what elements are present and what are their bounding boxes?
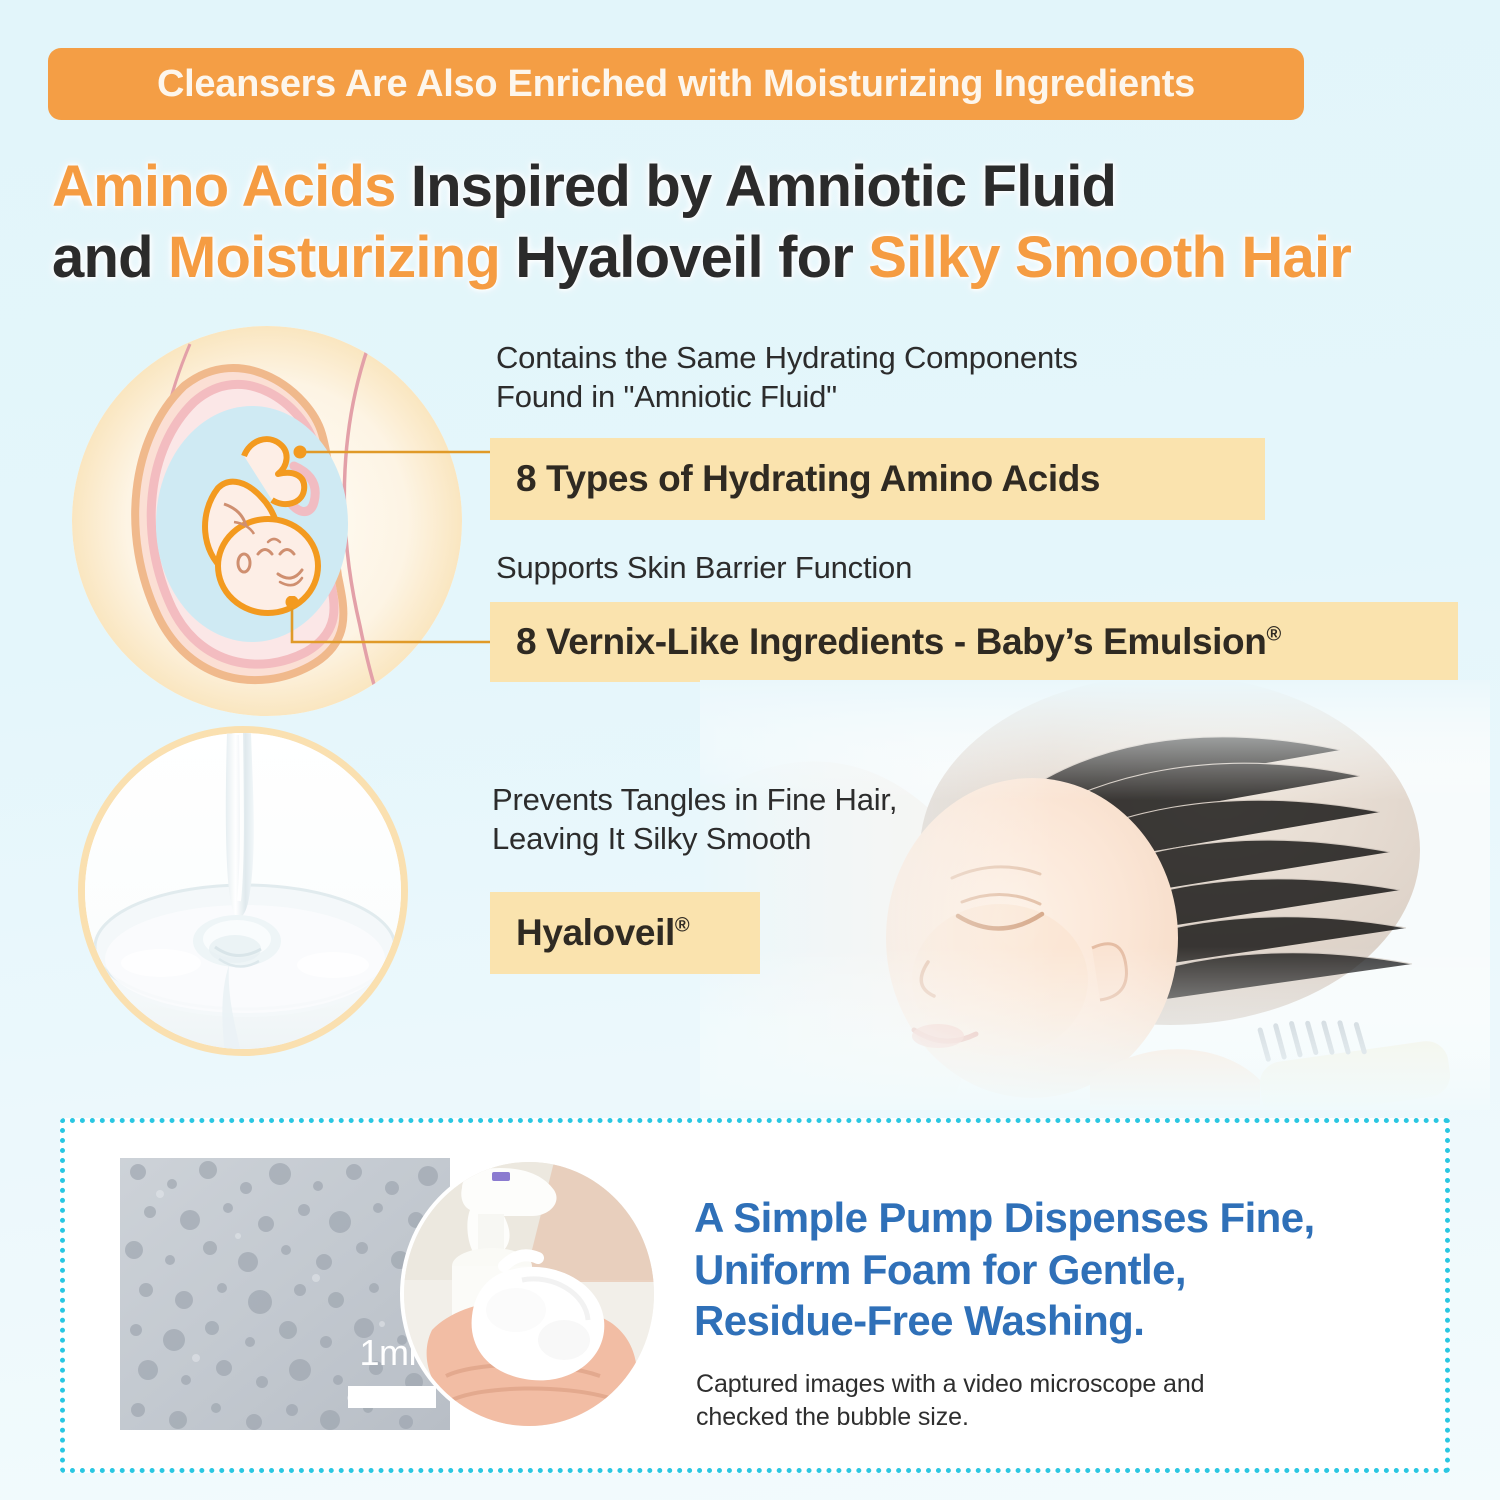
feature-highlight-2-label: 8 Vernix-Like Ingredients - Baby’s Emuls…: [516, 621, 1266, 662]
headline-inspired-by: Inspired by Amniotic Fluid: [396, 154, 1117, 219]
pump-note: Captured images with a video microscope …: [696, 1368, 1204, 1433]
headline-silky-smooth-hair: Silky Smooth Hair: [868, 225, 1351, 290]
header-banner: Cleansers Are Also Enriched with Moistur…: [48, 48, 1304, 120]
pump-heading: A Simple Pump Dispenses Fine, Uniform Fo…: [694, 1192, 1315, 1347]
feature-caption-3: Prevents Tangles in Fine Hair, Leaving I…: [492, 780, 897, 858]
baby-photo-graphic: [700, 680, 1490, 1110]
headline-hyaloveil-for: Hyaloveil for: [500, 225, 868, 290]
feature-caption-3-line-1: Prevents Tangles in Fine Hair,: [492, 780, 897, 819]
feature-highlight-2-text: 8 Vernix-Like Ingredients - Baby’s Emuls…: [516, 621, 1281, 663]
feature-caption-1-line-1: Contains the Same Hydrating Components: [496, 338, 1078, 377]
headline-moisturizing: Moisturizing: [168, 225, 500, 290]
feature-highlight-1-text: 8 Types of Hydrating Amino Acids: [516, 458, 1100, 500]
feature-highlight-1: 8 Types of Hydrating Amino Acids: [490, 438, 1265, 520]
headline-line-2: and Moisturizing Hyaloveil for Silky Smo…: [52, 223, 1462, 294]
pump-note-line-2: checked the bubble size.: [696, 1401, 1204, 1434]
feature-highlight-2: 8 Vernix-Like Ingredients - Baby’s Emuls…: [490, 602, 1458, 682]
feature-caption-1: Contains the Same Hydrating Components F…: [496, 338, 1078, 416]
pouring-liquid-icon: [85, 733, 405, 1053]
pump-heading-line-1: A Simple Pump Dispenses Fine,: [694, 1192, 1315, 1244]
headline-and: and: [52, 225, 168, 290]
pump-heading-line-2: Uniform Foam for Gentle,: [694, 1244, 1315, 1296]
scale-bar: [348, 1386, 436, 1408]
pump-foam-graphic: [404, 1162, 658, 1430]
sleeping-baby-photo: [700, 680, 1490, 1110]
header-banner-text: Cleansers Are Also Enriched with Moistur…: [157, 63, 1195, 106]
water-illustration-circle: [78, 726, 408, 1056]
womb-illustration-circle: [72, 326, 462, 716]
headline-line-1: Amino Acids Inspired by Amniotic Fluid: [52, 152, 1462, 223]
pump-note-line-1: Captured images with a video microscope …: [696, 1368, 1204, 1401]
pump-heading-line-3: Residue-Free Washing.: [694, 1295, 1315, 1347]
foam-in-hand-photo: [400, 1158, 658, 1430]
feature-caption-3-line-2: Leaving It Silky Smooth: [492, 819, 897, 858]
page-title: Amino Acids Inspired by Amniotic Fluid a…: [52, 152, 1462, 294]
fetus-in-womb-icon: [72, 326, 462, 716]
registered-trademark-icon: ®: [1266, 624, 1280, 646]
feature-highlight-3-label: Hyaloveil: [516, 912, 675, 953]
header-banner-bg: Cleansers Are Also Enriched with Moistur…: [48, 48, 1304, 120]
headline-amino-acids: Amino Acids: [52, 154, 396, 219]
feature-highlight-3: Hyaloveil®: [490, 892, 760, 974]
registered-trademark-icon-2: ®: [675, 915, 689, 937]
feature-caption-2: Supports Skin Barrier Function: [496, 548, 912, 587]
feature-highlight-3-text: Hyaloveil®: [516, 912, 689, 954]
feature-caption-1-line-2: Found in "Amniotic Fluid": [496, 377, 1078, 416]
